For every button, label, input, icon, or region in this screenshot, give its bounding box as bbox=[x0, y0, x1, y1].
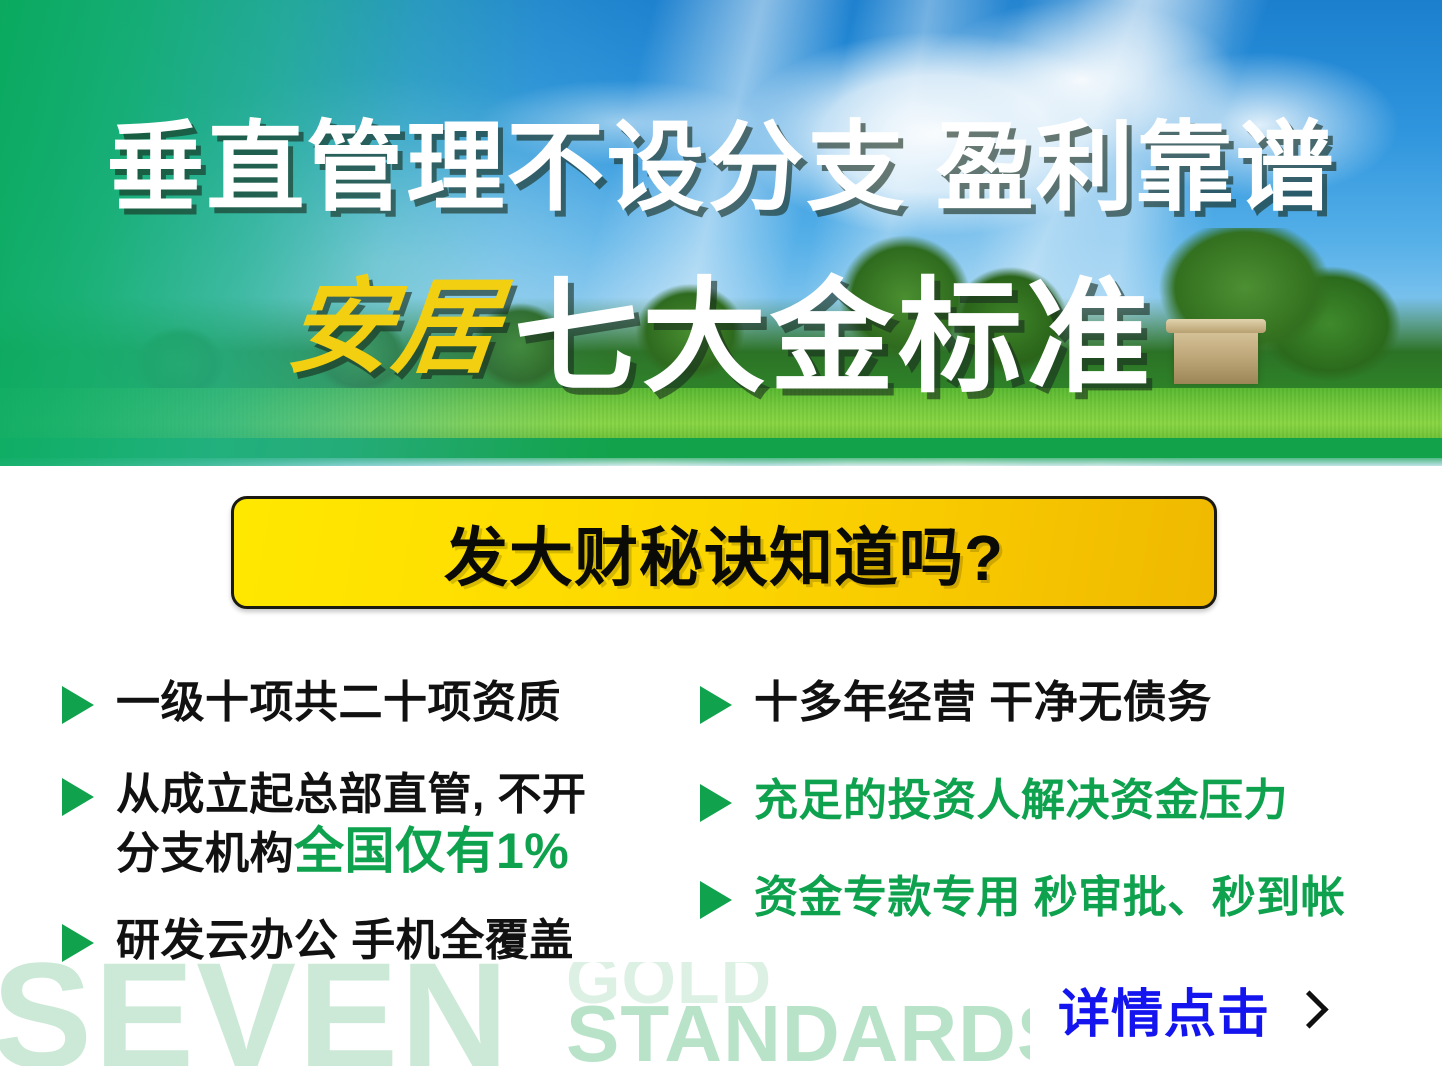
triangle-right-icon bbox=[700, 784, 732, 822]
feature-item: 资金专款专用 秒审批、秒到帐 bbox=[700, 871, 1400, 925]
feature-list-left: 一级十项共二十项资质 从成立起总部直管, 不开 分支机构全国仅有1% 研发云办公… bbox=[62, 676, 682, 998]
feature-text: 十多年经营 干净无债务 bbox=[754, 676, 1212, 730]
hero-banner: 垂直管理不设分支 盈利靠谱 安居七大金标准 bbox=[0, 0, 1442, 466]
triangle-right-icon bbox=[62, 924, 94, 962]
feature-item: 研发云办公 手机全覆盖 bbox=[62, 914, 682, 968]
triangle-right-icon bbox=[62, 686, 94, 724]
feature-item: 充足的投资人解决资金压力 bbox=[700, 774, 1400, 828]
feature-line: 十多年经营 干净无债务 bbox=[754, 676, 1212, 730]
triangle-right-icon bbox=[62, 778, 94, 816]
details-link[interactable]: 详情点击 bbox=[1058, 972, 1323, 1047]
hero-brand-text: 安居 bbox=[283, 276, 506, 380]
watermark-standards-text: STANDARDS bbox=[566, 994, 1030, 1066]
feature-line: 资金专款专用 秒审批、秒到帐 bbox=[754, 871, 1345, 925]
feature-item: 从成立起总部直管, 不开 分支机构全国仅有1% bbox=[62, 768, 682, 883]
poster-root: 垂直管理不设分支 盈利靠谱 安居七大金标准 发大财秘诀知道吗? 一级十项共二十项… bbox=[0, 0, 1442, 1066]
feature-item: 十多年经营 干净无债务 bbox=[700, 676, 1400, 730]
chevron-right-icon bbox=[1290, 990, 1328, 1028]
feature-line: 研发云办公 手机全覆盖 bbox=[116, 914, 574, 968]
feature-text: 一级十项共二十项资质 bbox=[116, 676, 561, 730]
feature-text: 从成立起总部直管, 不开 分支机构全国仅有1% bbox=[116, 768, 586, 883]
feature-line: 一级十项共二十项资质 bbox=[116, 676, 561, 730]
feature-text: 资金专款专用 秒审批、秒到帐 bbox=[754, 871, 1345, 925]
details-link-label: 详情点击 bbox=[1058, 972, 1270, 1047]
cta-banner-label: 发大财秘诀知道吗? bbox=[444, 507, 1004, 599]
feature-line-plain: 分支机构 bbox=[116, 829, 294, 878]
triangle-right-icon bbox=[700, 686, 732, 724]
hero-headline-line1: 垂直管理不设分支 盈利靠谱 bbox=[0, 118, 1442, 216]
feature-text: 研发云办公 手机全覆盖 bbox=[116, 914, 574, 968]
feature-line-highlight: 全国仅有1% bbox=[294, 823, 569, 879]
feature-list-right: 十多年经营 干净无债务 充足的投资人解决资金压力 资金专款专用 秒审批、秒到帐 bbox=[700, 676, 1400, 955]
feature-line: 从成立起总部直管, 不开 bbox=[116, 768, 586, 822]
hero-headline-line2: 安居七大金标准 bbox=[0, 276, 1442, 400]
feature-item: 一级十项共二十项资质 bbox=[62, 676, 682, 730]
cta-banner[interactable]: 发大财秘诀知道吗? bbox=[231, 496, 1217, 609]
feature-line: 分支机构全国仅有1% bbox=[116, 821, 586, 882]
feature-line: 充足的投资人解决资金压力 bbox=[754, 774, 1288, 828]
hero-headline-main-text: 七大金标准 bbox=[514, 276, 1154, 400]
triangle-right-icon bbox=[700, 881, 732, 919]
feature-text: 充足的投资人解决资金压力 bbox=[754, 774, 1288, 828]
